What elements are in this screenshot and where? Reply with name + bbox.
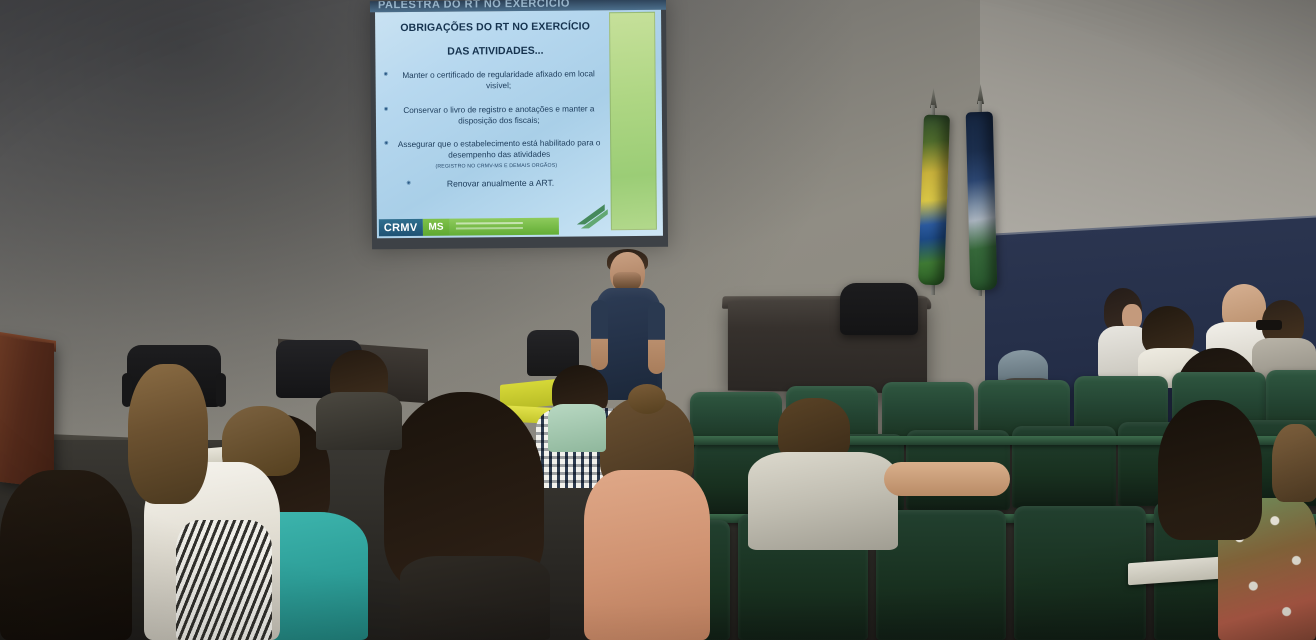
logo-tail-bar bbox=[449, 218, 559, 236]
slide-bullet-4: Renovar anualmente a ART. bbox=[384, 177, 608, 189]
grey-polo-shirt bbox=[748, 452, 898, 550]
light-green-top bbox=[548, 404, 606, 452]
slide-bullet-3-subnote: (REGISTRO NO CRMV-MS E DEMAIS ORGÃOS) bbox=[384, 162, 608, 170]
dark-hair bbox=[1158, 400, 1262, 540]
bandeira-de-mato-grosso-do-sul bbox=[966, 112, 998, 291]
slide-bullet-3: Assegurar que o estabelecimento está hab… bbox=[384, 139, 608, 163]
bun-knot bbox=[628, 384, 666, 414]
projection-screen: PALESTRA DO RT NO EXERCÍCIO OBRIGAÇÕES D… bbox=[370, 0, 668, 249]
lecture-hall-photo: PALESTRA DO RT NO EXERCÍCIO OBRIGAÇÕES D… bbox=[0, 0, 1316, 640]
presentation-slide: OBRIGAÇÕES DO RT NO EXERCÍCIO DAS ATIVID… bbox=[375, 10, 663, 238]
logo-crmv-text: CRMV bbox=[379, 219, 423, 236]
slide-title-line-2: DAS ATIVIDADES... bbox=[383, 44, 607, 58]
slide-green-accent-bar bbox=[609, 12, 657, 230]
presenter-arm-right bbox=[648, 302, 665, 374]
torso bbox=[400, 556, 550, 640]
blonde-ponytail bbox=[128, 364, 208, 504]
crmv-ms-logo: CRMV MS bbox=[379, 218, 559, 237]
slide-title-line-1: OBRIGAÇÕES DO RT NO EXERCÍCIO bbox=[383, 20, 607, 35]
striped-shirt bbox=[176, 520, 272, 640]
logo-ms-text: MS bbox=[422, 219, 449, 236]
presenter-arm-left bbox=[591, 300, 608, 370]
slide-bullet-1: Manter o certificado de regularidade afi… bbox=[384, 69, 608, 93]
chair-arm-right bbox=[216, 373, 226, 407]
wooden-podium bbox=[0, 336, 54, 488]
executive-chair-behind-table bbox=[840, 283, 918, 335]
torso bbox=[316, 392, 402, 450]
tan-top bbox=[584, 470, 710, 640]
auditorium-seat bbox=[1014, 506, 1146, 640]
hair bbox=[1272, 424, 1316, 502]
torso-dark bbox=[0, 470, 132, 640]
eyeglasses-icon bbox=[1256, 320, 1282, 330]
right-wall-upper bbox=[980, 0, 1316, 246]
swoosh-decoration-icon bbox=[575, 198, 611, 230]
slide-bullet-2: Conservar o livro de registro e anotaçõe… bbox=[384, 104, 608, 128]
outstretched-arm bbox=[884, 462, 1010, 496]
